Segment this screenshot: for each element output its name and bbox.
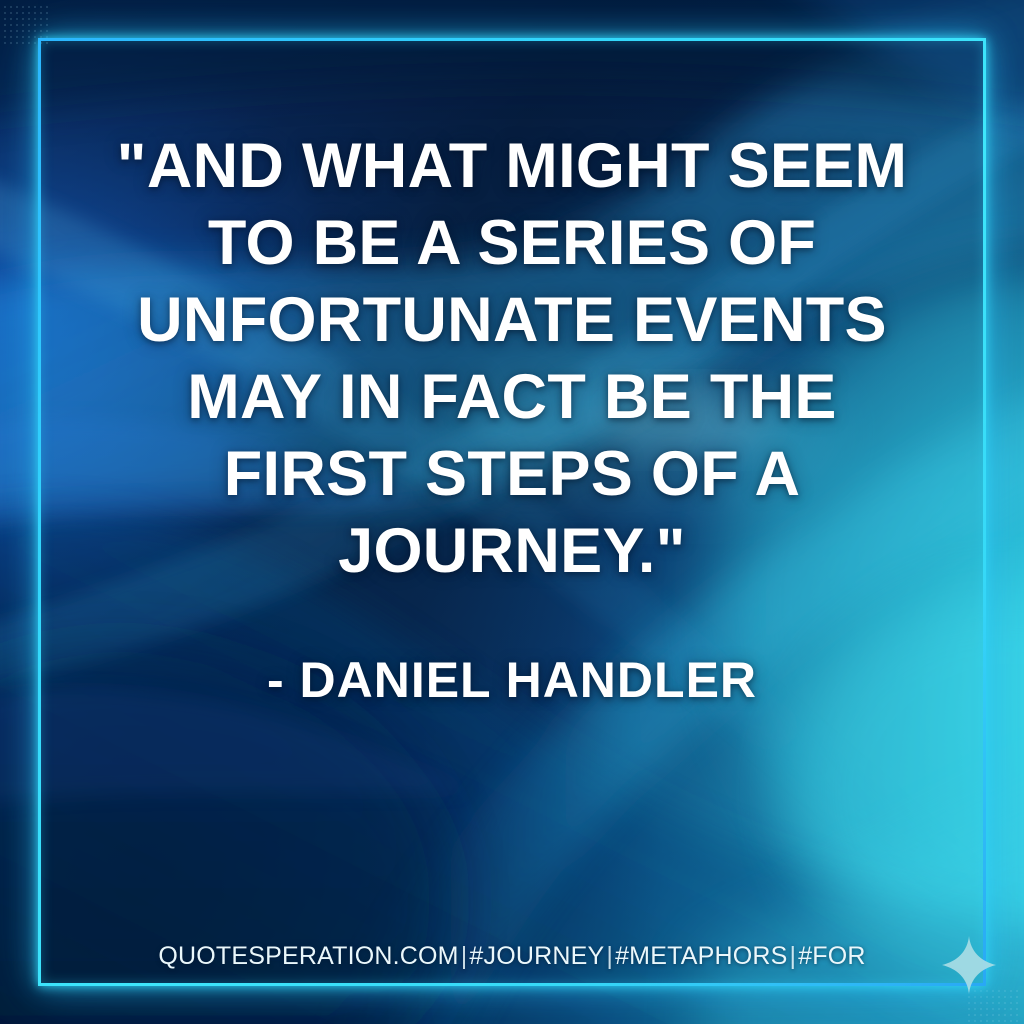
quote-line-2: TO BE A SERIES OF (62, 205, 962, 282)
quote-attribution: - DANIEL HANDLER (62, 650, 962, 710)
sparkle-icon (942, 936, 996, 994)
quote-line-3: UNFORTUNATE EVENTS (62, 282, 962, 359)
footer-separator-2: | (604, 942, 615, 970)
footer-tag-metaphors: #METAPHORS (615, 942, 787, 970)
footer-credit-line: QUOTESPERATION.COM|#JOURNEY|#METAPHORS|#… (0, 942, 1024, 971)
quote-card: "AND WHAT MIGHT SEEM TO BE A SERIES OF U… (0, 0, 1024, 1024)
quote-text-block: "AND WHAT MIGHT SEEM TO BE A SERIES OF U… (62, 128, 962, 590)
footer-site-name: QUOTESPERATION.COM (158, 942, 458, 970)
footer-separator-3: | (787, 942, 798, 970)
footer-separator-1: | (459, 942, 470, 970)
quote-line-1: "AND WHAT MIGHT SEEM (62, 128, 962, 205)
footer-tag-for: #FOR (798, 942, 865, 970)
quote-line-5: FIRST STEPS OF A (62, 436, 962, 513)
footer-tag-journey: #JOURNEY (469, 942, 604, 970)
quote-line-4: MAY IN FACT BE THE (62, 359, 962, 436)
quote-line-6: JOURNEY." (62, 513, 962, 590)
